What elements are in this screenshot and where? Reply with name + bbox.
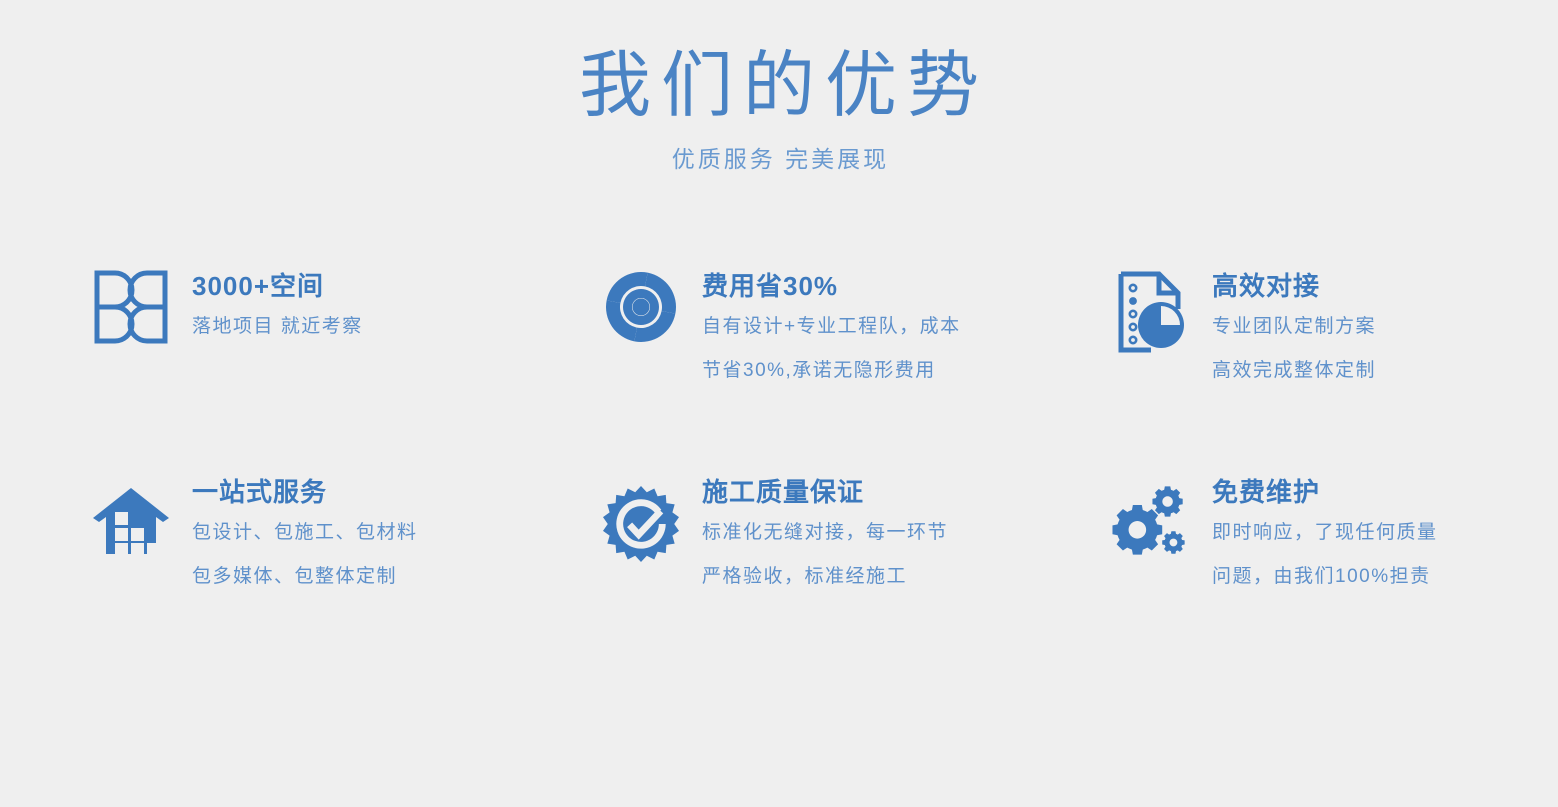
feature-body-4: 一站式服务 包设计、包施工、包材料 包多媒体、包整体定制	[192, 472, 418, 586]
feature-title: 施工质量保证	[702, 478, 948, 507]
feature-item-1: 3000+空间 落地项目 就近考察	[92, 262, 602, 472]
feature-desc-line: 问题，由我们100%担责	[1212, 567, 1438, 586]
feature-title: 高效对接	[1212, 272, 1376, 301]
feature-body-1: 3000+空间 落地项目 就近考察	[192, 262, 363, 336]
four-petals-icon	[92, 262, 170, 354]
features-grid: 3000+空间 落地项目 就近考察 费用省3	[0, 262, 1558, 682]
feature-item-6: 免费维护 即时响应，了现任何质量 问题，由我们100%担责	[1112, 472, 1558, 682]
header: 我们的优势 优质服务 完美展现	[0, 0, 1558, 174]
document-pie-chart-icon	[1112, 262, 1190, 354]
feature-desc-line: 标准化无缝对接，每一环节	[702, 523, 948, 542]
house-icon	[92, 472, 170, 564]
feature-desc-line: 高效完成整体定制	[1212, 361, 1376, 380]
feature-item-3: 高效对接 专业团队定制方案 高效完成整体定制	[1112, 262, 1558, 472]
feature-desc-line: 包设计、包施工、包材料	[192, 523, 418, 542]
feature-body-5: 施工质量保证 标准化无缝对接，每一环节 严格验收，标准经施工	[702, 472, 948, 586]
feature-desc-line: 专业团队定制方案	[1212, 317, 1376, 336]
feature-desc-line: 落地项目 就近考察	[192, 317, 363, 336]
feature-body-6: 免费维护 即时响应，了现任何质量 问题，由我们100%担责	[1212, 472, 1438, 586]
feature-desc-line: 即时响应，了现任何质量	[1212, 523, 1438, 542]
feature-desc-line: 自有设计+专业工程队，成本	[702, 317, 961, 336]
feature-title: 3000+空间	[192, 272, 363, 301]
feature-title: 免费维护	[1212, 478, 1438, 507]
gears-icon	[1112, 472, 1190, 564]
feature-title: 一站式服务	[192, 478, 418, 507]
feature-body-3: 高效对接 专业团队定制方案 高效完成整体定制	[1212, 262, 1376, 380]
feature-title: 费用省30%	[702, 272, 961, 301]
feature-item-4: 一站式服务 包设计、包施工、包材料 包多媒体、包整体定制	[92, 472, 602, 682]
slide-canvas: 我们的优势 优质服务 完美展现 3000+空间 落地项目 就近考察	[0, 0, 1558, 807]
page-title: 我们的优势	[0, 48, 1558, 126]
feature-item-2: 费用省30% 自有设计+专业工程队，成本 节省30%,承诺无隐形费用	[602, 262, 1112, 472]
page-subtitle: 优质服务 完美展现	[0, 140, 1558, 174]
feature-desc-line: 包多媒体、包整体定制	[192, 567, 418, 586]
feature-desc-line: 节省30%,承诺无隐形费用	[702, 361, 961, 380]
badge-check-icon	[602, 472, 680, 564]
feature-desc-line: 严格验收，标准经施工	[702, 567, 948, 586]
feature-item-5: 施工质量保证 标准化无缝对接，每一环节 严格验收，标准经施工	[602, 472, 1112, 682]
feature-body-2: 费用省30% 自有设计+专业工程队，成本 节省30%,承诺无隐形费用	[702, 262, 961, 380]
target-bullseye-icon	[602, 262, 680, 354]
